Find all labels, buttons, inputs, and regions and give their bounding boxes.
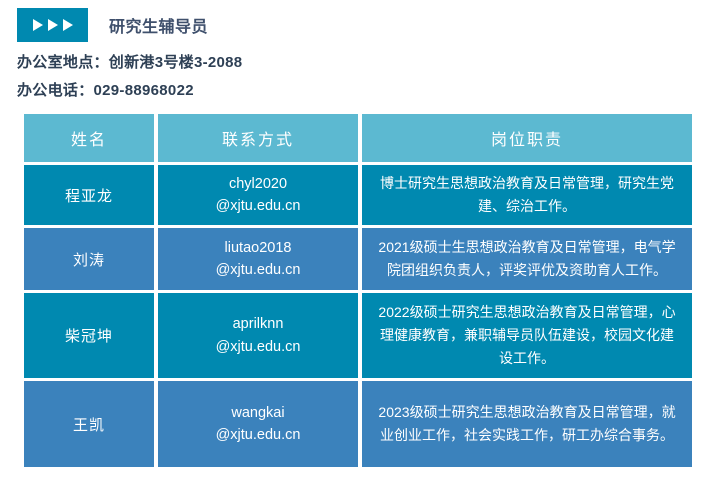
staff-directory-table: 姓名 联系方式 岗位职责 程亚龙 chyl2020 @xjtu.edu.cn 博… bbox=[20, 111, 696, 470]
triple-right-arrow-icon bbox=[17, 8, 88, 42]
arrow-glyph-1 bbox=[33, 19, 43, 31]
cell-contact: wangkai @xjtu.edu.cn bbox=[158, 381, 358, 467]
title-row: 研究生辅导员 bbox=[17, 8, 697, 42]
email-user: aprilknn bbox=[166, 313, 350, 335]
table-header-row: 姓名 联系方式 岗位职责 bbox=[24, 114, 692, 162]
column-header-duty: 岗位职责 bbox=[362, 114, 692, 162]
table-row: 柴冠坤 aprilknn @xjtu.edu.cn 2022级硕士研究生思想政治… bbox=[24, 293, 692, 378]
page-header: 研究生辅导员 办公室地点：创新港3号楼3-2088 办公电话：029-88968… bbox=[17, 8, 697, 103]
email-domain: @xjtu.edu.cn bbox=[166, 424, 350, 446]
email-user: liutao2018 bbox=[166, 237, 350, 259]
cell-name: 王凯 bbox=[24, 381, 154, 467]
column-header-name: 姓名 bbox=[24, 114, 154, 162]
cell-name: 柴冠坤 bbox=[24, 293, 154, 378]
arrow-glyph-3 bbox=[63, 19, 73, 31]
table-row: 王凯 wangkai @xjtu.edu.cn 2023级硕士研究生思想政治教育… bbox=[24, 381, 692, 467]
table-row: 刘涛 liutao2018 @xjtu.edu.cn 2021级硕士生思想政治教… bbox=[24, 228, 692, 290]
cell-duty: 2021级硕士生思想政治教育及日常管理，电气学院团组织负责人，评奖评优及资助育人… bbox=[362, 228, 692, 290]
cell-duty: 2023级硕士研究生思想政治教育及日常管理，就业创业工作，社会实践工作，研工办综… bbox=[362, 381, 692, 467]
email-domain: @xjtu.edu.cn bbox=[166, 259, 350, 281]
cell-contact: liutao2018 @xjtu.edu.cn bbox=[158, 228, 358, 290]
table-header: 姓名 联系方式 岗位职责 bbox=[24, 114, 692, 162]
cell-contact: aprilknn @xjtu.edu.cn bbox=[158, 293, 358, 378]
page-title: 研究生辅导员 bbox=[109, 13, 208, 37]
table-row: 程亚龙 chyl2020 @xjtu.edu.cn 博士研究生思想政治教育及日常… bbox=[24, 165, 692, 225]
email-domain: @xjtu.edu.cn bbox=[166, 195, 350, 217]
office-phone: 办公电话：029-88968022 bbox=[17, 79, 697, 100]
cell-duty: 博士研究生思想政治教育及日常管理，研究生党建、综治工作。 bbox=[362, 165, 692, 225]
cell-name: 刘涛 bbox=[24, 228, 154, 290]
cell-duty: 2022级硕士研究生思想政治教育及日常管理，心理健康教育，兼职辅导员队伍建设，校… bbox=[362, 293, 692, 378]
cell-contact: chyl2020 @xjtu.edu.cn bbox=[158, 165, 358, 225]
email-user: wangkai bbox=[166, 402, 350, 424]
column-header-contact: 联系方式 bbox=[158, 114, 358, 162]
email-user: chyl2020 bbox=[166, 173, 350, 195]
cell-name: 程亚龙 bbox=[24, 165, 154, 225]
arrow-glyph-2 bbox=[48, 19, 58, 31]
table-body: 程亚龙 chyl2020 @xjtu.edu.cn 博士研究生思想政治教育及日常… bbox=[24, 165, 692, 467]
email-domain: @xjtu.edu.cn bbox=[166, 336, 350, 358]
office-location: 办公室地点：创新港3号楼3-2088 bbox=[17, 51, 697, 72]
